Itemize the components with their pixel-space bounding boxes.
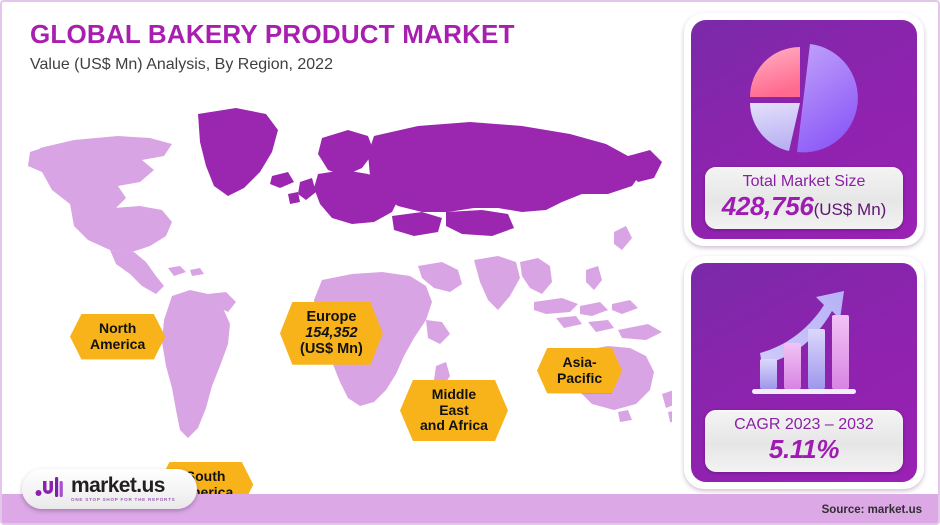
- region-label-line1: North: [90, 321, 145, 337]
- card-cagr: CAGR 2023 – 2032 5.11%: [684, 256, 924, 489]
- market-us-logo-icon: [34, 475, 64, 504]
- page-title: GLOBAL BAKERY PRODUCT MARKET: [30, 20, 515, 49]
- region-label-line2: America: [90, 337, 145, 353]
- card-label: Total Market Size: [711, 172, 897, 191]
- card-body: CAGR 2023 – 2032 5.11%: [691, 263, 917, 482]
- page-subtitle: Value (US$ Mn) Analysis, By Region, 2022: [30, 56, 515, 74]
- logo-text: market.us ONE STOP SHOP FOR THE REPORTS: [71, 475, 175, 503]
- brand-logo[interactable]: market.us ONE STOP SHOP FOR THE REPORTS: [22, 469, 197, 509]
- card-value-row: 428,756(US$ Mn): [711, 192, 897, 222]
- growth-bar-chart-svg: [740, 281, 868, 403]
- region-label-line1: Europe: [300, 309, 363, 325]
- region-label-line2: Pacific: [557, 371, 602, 387]
- region-label-line1: Asia-: [557, 355, 602, 371]
- source-label: Source: market.us: [822, 504, 922, 516]
- pie-chart-icon: [701, 32, 907, 167]
- card-total-market-size: Total Market Size 428,756(US$ Mn): [684, 13, 924, 246]
- world-map: North America South America Europe 154,3…: [22, 90, 672, 470]
- logo-mark-svg: [34, 475, 64, 499]
- map-label-north-america[interactable]: North America: [70, 314, 165, 359]
- growth-bar-chart-icon: [701, 275, 907, 410]
- logo-name: market.us: [71, 475, 175, 496]
- region-unit: (US$ Mn): [300, 341, 363, 357]
- header: GLOBAL BAKERY PRODUCT MARKET Value (US$ …: [30, 20, 515, 74]
- region-label-line1: Middle: [420, 387, 488, 403]
- card-unit: (US$ Mn): [814, 200, 887, 219]
- world-map-svg: [22, 90, 672, 470]
- card-value: 5.11%: [769, 434, 839, 464]
- card-value-row: 5.11%: [711, 435, 897, 465]
- pie-chart-svg: [745, 40, 863, 158]
- region-label-line3: and Africa: [420, 418, 488, 434]
- region-value: 154,352: [300, 325, 363, 341]
- upward-trend-arrow-icon: [760, 291, 844, 365]
- card-label: CAGR 2023 – 2032: [711, 415, 897, 434]
- logo-tagline: ONE STOP SHOP FOR THE REPORTS: [71, 498, 175, 503]
- card-body: Total Market Size 428,756(US$ Mn): [691, 20, 917, 239]
- total-market-size-value-box: Total Market Size 428,756(US$ Mn): [705, 167, 903, 229]
- map-highlight-regions: [198, 108, 662, 236]
- card-value: 428,756: [722, 191, 814, 221]
- region-label-line2: East: [420, 403, 488, 419]
- map-label-asia-pacific[interactable]: Asia- Pacific: [537, 348, 622, 393]
- map-label-middle-east-and-africa[interactable]: Middle East and Africa: [400, 380, 508, 441]
- cagr-value-box: CAGR 2023 – 2032 5.11%: [705, 410, 903, 472]
- map-label-europe[interactable]: Europe 154,352 (US$ Mn): [280, 302, 383, 365]
- infographic-root: GLOBAL BAKERY PRODUCT MARKET Value (US$ …: [0, 0, 940, 525]
